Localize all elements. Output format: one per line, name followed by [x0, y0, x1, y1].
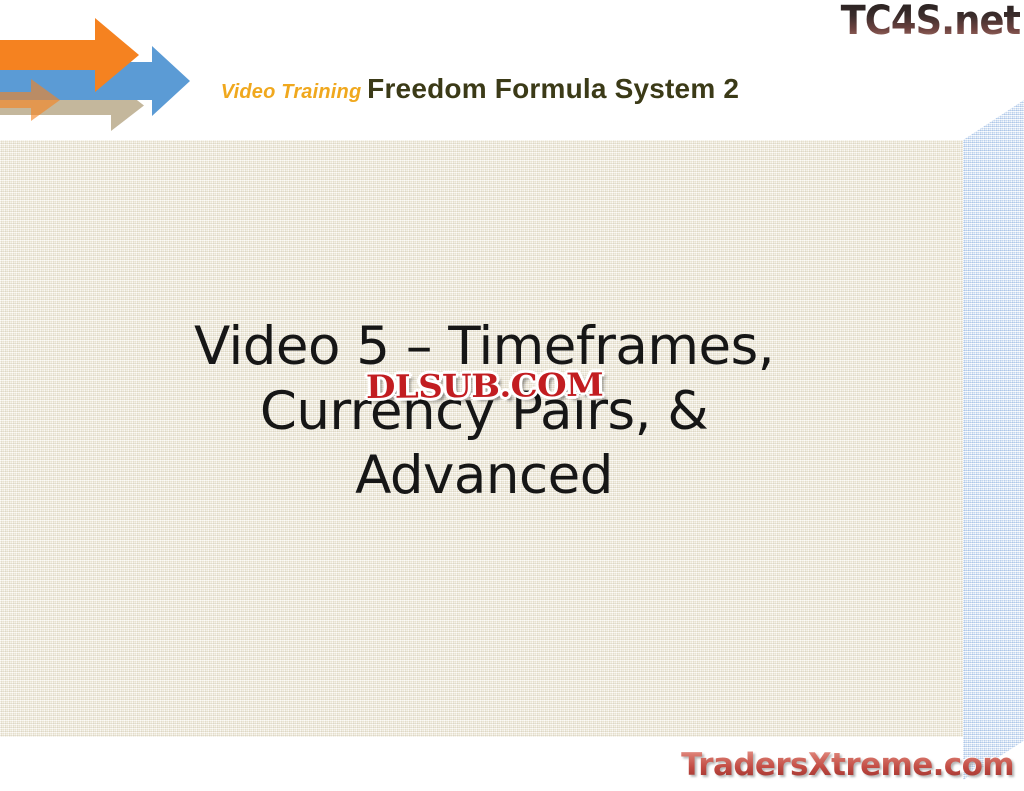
- header-kicker: Video Training: [221, 81, 367, 103]
- brand-logo-tc4s[interactable]: TC4S.net: [840, 0, 1020, 44]
- page-title: Freedom Formula System 2: [367, 73, 739, 104]
- slide-canvas: TC4S.net Video Training Freedom Formula …: [0, 0, 1024, 791]
- body-line-3: Advanced: [140, 444, 828, 509]
- slide-header: Video Training Freedom Formula System 2: [0, 75, 960, 103]
- watermark-dlsub: DLSUB.COM: [366, 366, 604, 406]
- brand-logo-tradersxtreme[interactable]: TradersXtreme.com: [681, 747, 1014, 783]
- slide-edge-strip: [963, 100, 1024, 780]
- slide-body-text: Video 5 – Timeframes, Currency Pairs, & …: [140, 315, 828, 509]
